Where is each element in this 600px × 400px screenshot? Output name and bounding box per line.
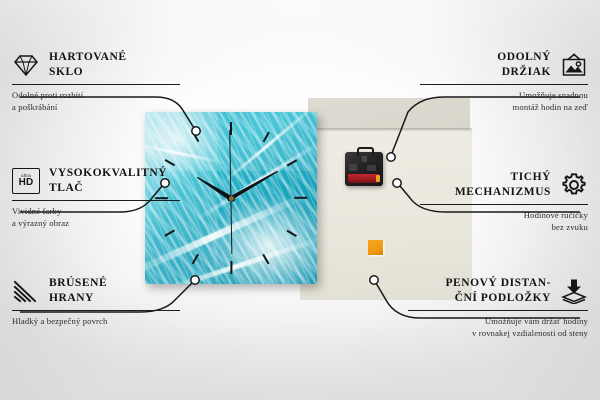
ultra-hd-main-label: HD	[19, 178, 34, 188]
feature-title: TICHÝ MECHANIZMUS	[455, 170, 551, 200]
product-scene	[130, 100, 470, 300]
feature-divider	[12, 310, 180, 311]
clock-mechanism	[345, 152, 383, 186]
feature-title: HARTOVANÉ SKLO	[49, 50, 127, 80]
feature-durable-hanger: ODOLNÝ DRŽIAK Umožňuje snadnou montáž ho…	[420, 50, 588, 113]
ultra-hd-badge-icon: ultra HD	[12, 167, 40, 195]
feature-tempered-glass: HARTOVANÉ SKLO Odolné proti rozbití a po…	[12, 50, 180, 113]
feature-divider	[12, 84, 180, 85]
clock-tick	[294, 197, 307, 199]
feature-title: ODOLNÝ DRŽIAK	[497, 50, 551, 80]
foam-spacer-icon	[560, 277, 588, 305]
mechanism-shaft	[362, 156, 367, 162]
mechanism-battery	[348, 174, 379, 183]
feature-divider	[420, 204, 588, 205]
feature-header: PENOVÝ DISTAN- ČNÍ PODLOŽKY	[408, 276, 588, 306]
wall-shadow-line	[300, 128, 472, 132]
feature-subtitle: Umožňuje vám držať hodiny v rovnakej vzd…	[408, 315, 588, 339]
product-infographic: HARTOVANÉ SKLO Odolné proti rozbití a po…	[0, 0, 600, 400]
clock-center-cap	[229, 196, 234, 201]
clock-tick	[230, 261, 232, 274]
brushed-edges-icon	[12, 277, 40, 305]
feature-header: ultra HD VYSOKOKVALITNÝ TLAČ	[12, 166, 180, 196]
feature-subtitle: Vividné farby a výrazný obraz	[12, 205, 180, 229]
diamond-icon	[12, 51, 40, 79]
mechanism-knob	[367, 165, 376, 171]
feature-divider	[420, 84, 588, 85]
feature-header: ODOLNÝ DRŽIAK	[420, 50, 588, 80]
feature-header: BRÚSENÉ HRANY	[12, 276, 180, 306]
feature-divider	[408, 310, 588, 311]
feature-title: PENOVÝ DISTAN- ČNÍ PODLOŽKY	[445, 276, 551, 306]
mechanism-hanger-hook	[357, 147, 374, 156]
feature-header: TICHÝ MECHANIZMUS	[420, 170, 588, 200]
feature-subtitle: Odolné proti rozbití a poškrábání	[12, 89, 180, 113]
mechanism-knob	[349, 164, 357, 171]
wall-hanger-frame-icon	[560, 51, 588, 79]
feature-title: BRÚSENÉ HRANY	[49, 276, 107, 306]
feature-foam-spacers: PENOVÝ DISTAN- ČNÍ PODLOŽKY Umožňuje vám…	[408, 276, 588, 339]
feature-polished-edges: BRÚSENÉ HRANY Hladký a bezpečný povrch	[12, 276, 180, 327]
foam-spacer-pad	[368, 240, 383, 255]
gear-icon	[560, 171, 588, 199]
feature-silent-mechanism: TICHÝ MECHANIZMUS Hodinové ručičky bez z…	[420, 170, 588, 233]
feature-high-quality-print: ultra HD VYSOKOKVALITNÝ TLAČ Vividné far…	[12, 166, 180, 229]
feature-divider	[12, 200, 180, 201]
feature-subtitle: Hladký a bezpečný povrch	[12, 315, 180, 327]
feature-header: HARTOVANÉ SKLO	[12, 50, 180, 80]
feature-subtitle: Hodinové ručičky bez zvuku	[420, 209, 588, 233]
feature-subtitle: Umožňuje snadnou montáž hodin na zeď	[420, 89, 588, 113]
feature-title: VYSOKOKVALITNÝ TLAČ	[49, 166, 167, 196]
